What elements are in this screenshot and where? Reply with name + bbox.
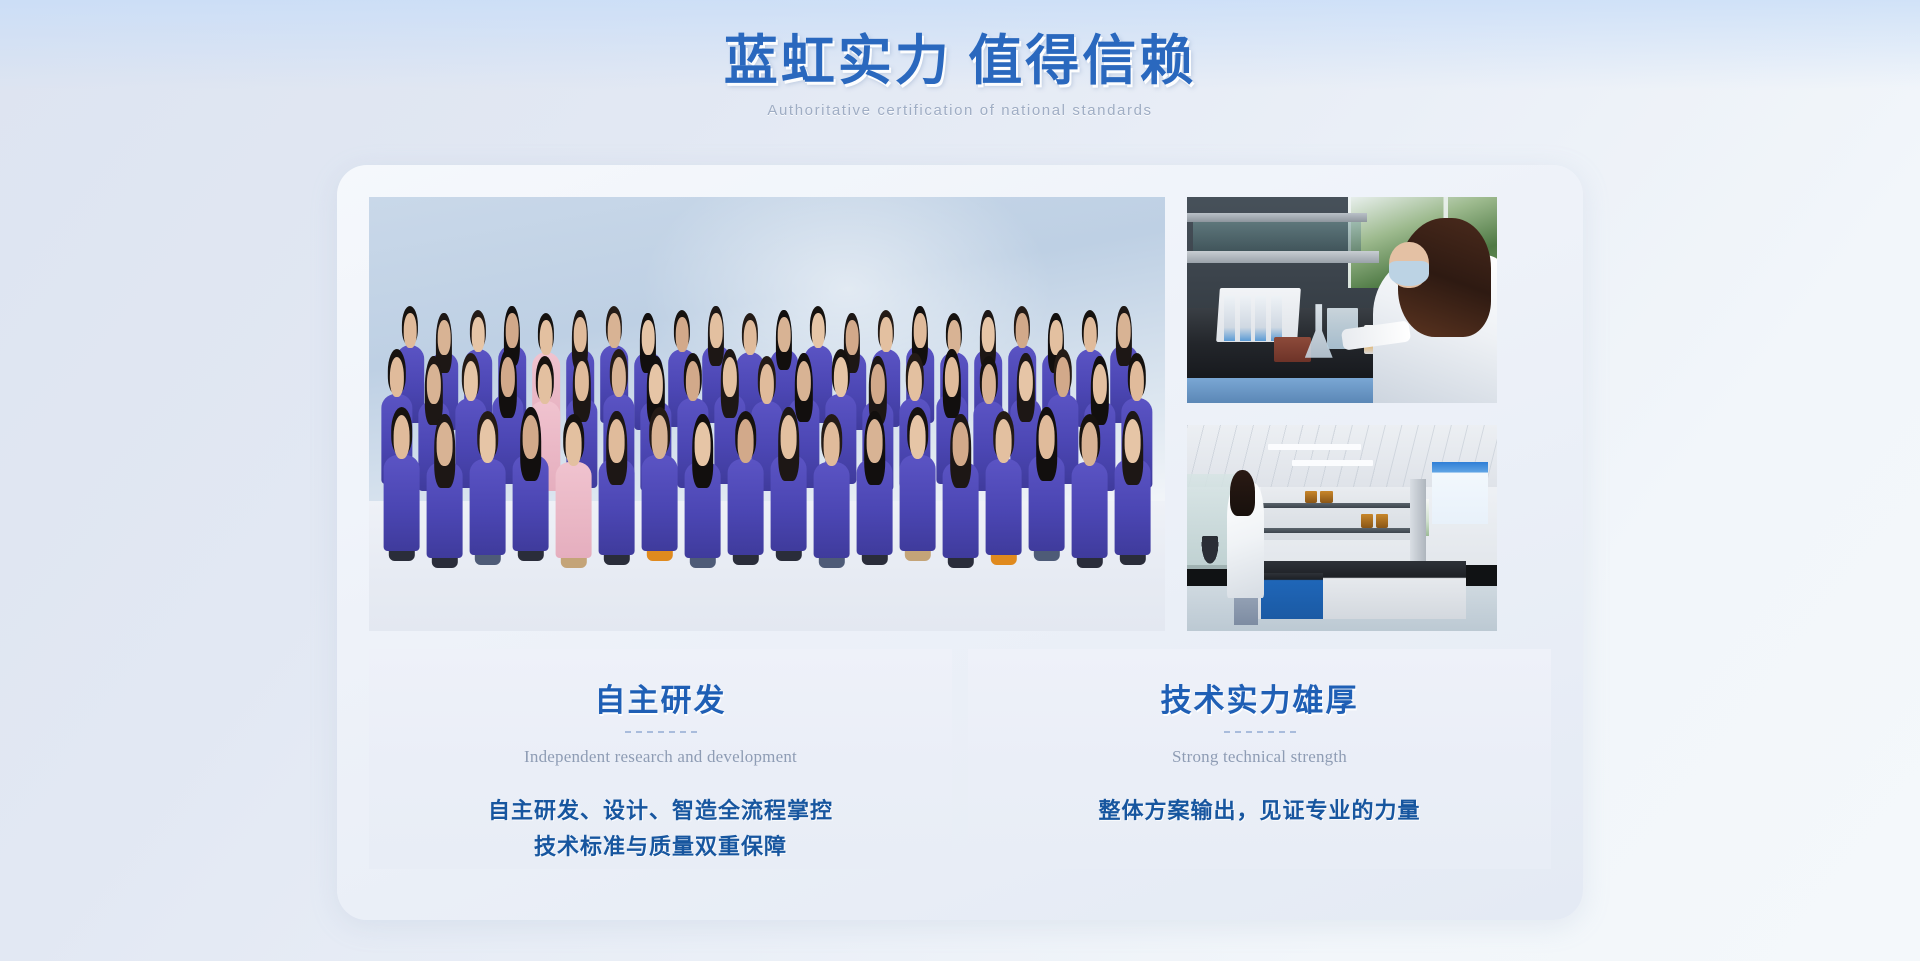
card-title: 自主研发 — [595, 675, 727, 720]
media-row — [369, 197, 1551, 631]
person-head — [608, 419, 625, 462]
person-head — [1124, 419, 1141, 462]
group-photo-person — [812, 408, 852, 568]
person-head — [812, 313, 825, 348]
person-head — [479, 419, 496, 462]
person-head — [522, 415, 539, 458]
group-photo-person — [597, 405, 637, 565]
person-head — [834, 357, 848, 398]
group-photo-person — [382, 401, 422, 561]
person-head — [1019, 361, 1033, 402]
person-head — [1081, 422, 1098, 465]
person-head — [914, 313, 927, 348]
group-photo-person — [984, 405, 1024, 565]
group-photo-row-front — [369, 405, 1165, 568]
person-head — [760, 364, 774, 405]
group-photo-person — [769, 401, 809, 561]
company-team-group-photo — [369, 197, 1165, 631]
person-uniform — [813, 462, 850, 558]
feature-cards: 自主研发 Independent research and developmen… — [369, 649, 1551, 869]
laboratory-room-photo — [1187, 425, 1497, 631]
person-head — [995, 419, 1012, 462]
person-uniform — [727, 459, 764, 555]
person-head — [866, 419, 883, 462]
group-photo-person — [425, 408, 465, 568]
card-description-line-1: 自主研发、设计、智造全流程掌控 — [488, 793, 833, 829]
person-uniform — [985, 459, 1022, 555]
group-photo-person — [511, 401, 551, 561]
page-header: 蓝虹实力 值得信赖 Authoritative certification of… — [0, 0, 1920, 119]
feature-card-independent-rd[interactable]: 自主研发 Independent research and developmen… — [369, 649, 952, 869]
person-head — [871, 364, 885, 405]
person-uniform — [899, 455, 936, 551]
page-title: 蓝虹实力 值得信赖 — [0, 30, 1920, 92]
person-head — [686, 361, 700, 402]
person-head — [649, 364, 663, 405]
person-head — [390, 357, 404, 398]
person-head — [1016, 313, 1029, 348]
card-english-subtitle: Strong technical strength — [1172, 747, 1347, 767]
person-head — [393, 415, 410, 458]
person-head — [1130, 361, 1144, 402]
person-head — [945, 357, 959, 398]
group-photo-person — [640, 401, 680, 561]
card-english-subtitle: Independent research and development — [524, 747, 797, 767]
lab-photo-column — [1187, 197, 1497, 631]
person-head — [982, 364, 996, 405]
person-head — [1056, 357, 1070, 398]
group-photo-person — [898, 401, 938, 561]
feature-card-technical-strength[interactable]: 技术实力雄厚 Strong technical strength 整体方案输出，… — [968, 649, 1551, 869]
group-photo-person — [1113, 405, 1153, 565]
group-photo-person — [1070, 408, 1110, 568]
person-head — [501, 357, 515, 398]
group-photo-person — [855, 405, 895, 565]
person-uniform — [469, 459, 506, 555]
lab-technician-pipette-photo — [1187, 197, 1497, 403]
person-head — [908, 361, 922, 402]
group-photo-person — [726, 405, 766, 565]
person-head — [952, 422, 969, 465]
group-photo-person — [468, 405, 508, 565]
group-photo-person — [554, 408, 594, 568]
person-head — [1093, 364, 1107, 405]
person-head — [780, 415, 797, 458]
card-description: 整体方案输出，见证专业的力量 — [1098, 793, 1420, 829]
person-head — [1038, 415, 1055, 458]
person-head — [651, 415, 668, 458]
person-head — [909, 415, 926, 458]
person-head — [436, 422, 453, 465]
page-subtitle: Authoritative certification of national … — [0, 102, 1920, 119]
person-uniform — [1071, 462, 1108, 558]
group-photo-person — [683, 408, 723, 568]
group-photo-person — [941, 408, 981, 568]
person-head — [565, 422, 582, 465]
person-head — [1118, 313, 1131, 348]
person-head — [427, 364, 441, 405]
person-head — [723, 357, 737, 398]
person-head — [823, 422, 840, 465]
person-uniform — [383, 455, 420, 551]
card-description: 自主研发、设计、智造全流程掌控 技术标准与质量双重保障 — [488, 793, 833, 866]
person-uniform — [641, 455, 678, 551]
card-description-line-1: 整体方案输出，见证专业的力量 — [1098, 793, 1420, 829]
person-head — [797, 361, 811, 402]
person-head — [538, 364, 552, 405]
card-description-line-2: 技术标准与质量双重保障 — [488, 829, 833, 865]
group-photo-person — [1027, 401, 1067, 561]
card-title: 技术实力雄厚 — [1161, 675, 1359, 720]
dashed-divider — [1224, 731, 1296, 733]
person-head — [694, 422, 711, 465]
content-panel: 自主研发 Independent research and developmen… — [337, 165, 1583, 920]
person-head — [464, 361, 478, 402]
person-head — [575, 361, 589, 402]
person-uniform — [555, 462, 592, 558]
dashed-divider — [625, 731, 697, 733]
person-head — [612, 357, 626, 398]
person-head — [737, 419, 754, 462]
